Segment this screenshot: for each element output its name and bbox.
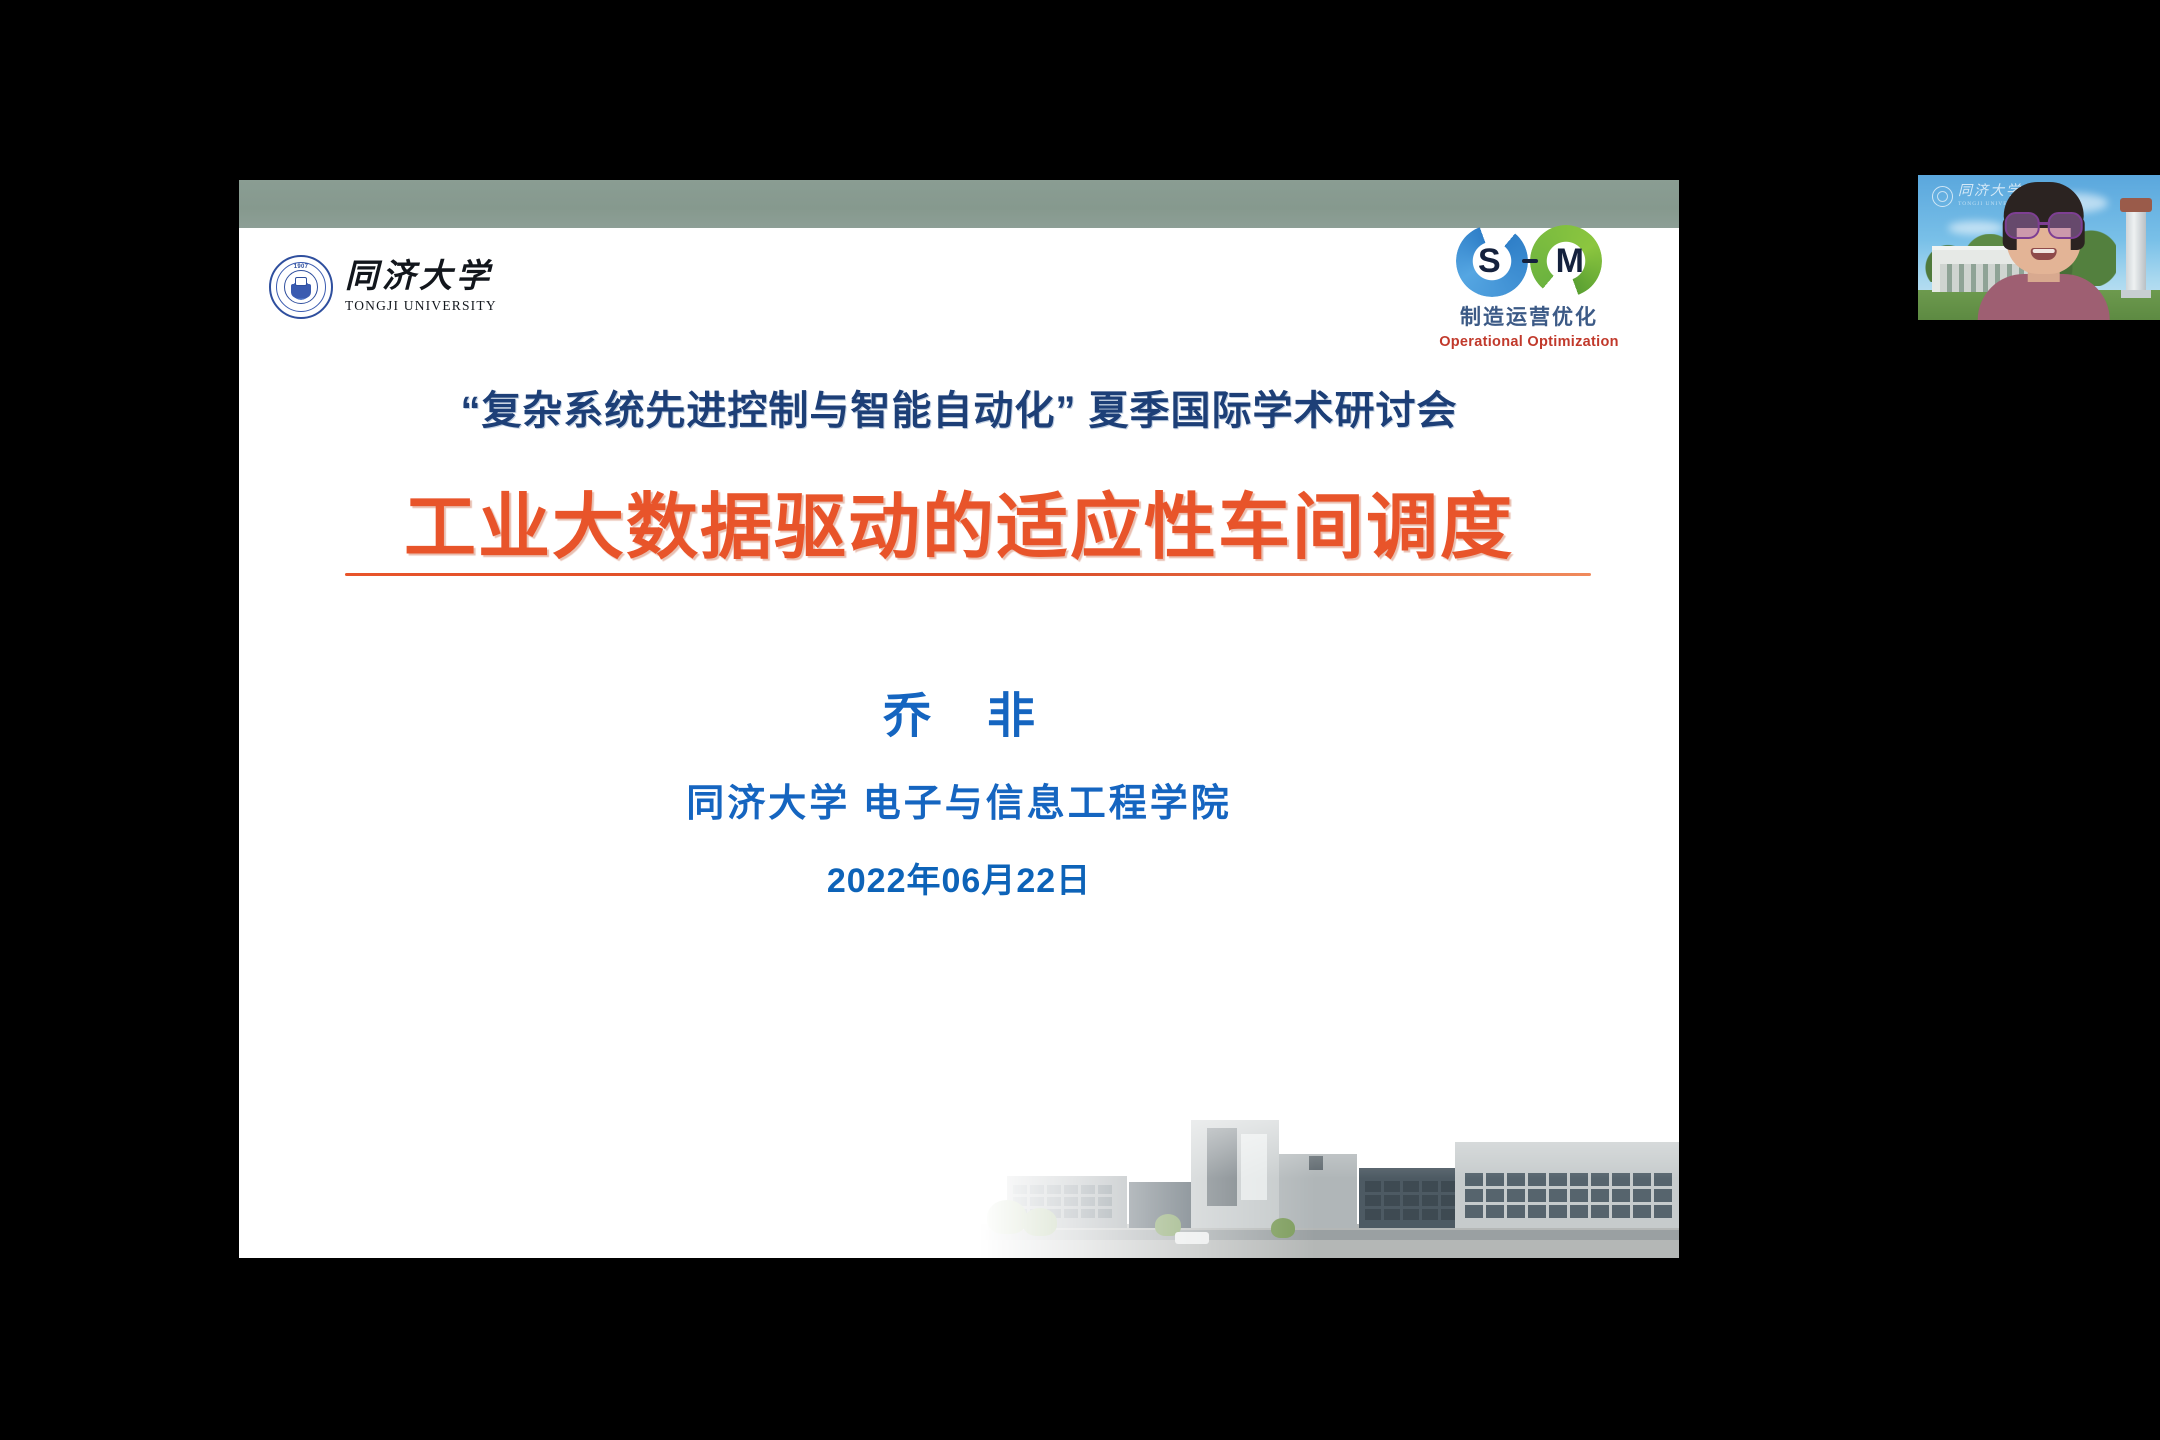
- webcam-speaker-portrait: [1985, 196, 2103, 320]
- conference-subtitle: “复杂系统先进控制与智能自动化” 夏季国际学术研讨会: [239, 378, 1679, 436]
- tongji-university-logo: 1907 同济大学 TONGJI UNIVERSITY: [269, 255, 497, 319]
- event-date: 2022年06月22日: [239, 853, 1679, 902]
- title-underline-rule: [345, 573, 1591, 576]
- campus-building-photo: [979, 1058, 1679, 1258]
- tongji-name-en: TONGJI UNIVERSITY: [345, 298, 497, 314]
- operational-optimization-logo: S M 制造运营优化 Operational Optimization: [1439, 225, 1619, 350]
- osm-dash-icon: [1522, 259, 1538, 263]
- presentation-title: 工业大数据驱动的适应性车间调度: [239, 468, 1679, 573]
- osm-mark-icon: S M: [1454, 225, 1604, 297]
- slide-top-band: [239, 180, 1679, 228]
- tongji-wordmark: 同济大学 TONGJI UNIVERSITY: [345, 261, 497, 314]
- speaker-name: 乔 非: [239, 676, 1679, 746]
- portrait-glasses-icon: [2005, 212, 2083, 236]
- presentation-slide[interactable]: 1907 同济大学 TONGJI UNIVERSITY S M 制造运营优化 O…: [239, 180, 1679, 1258]
- seal-year-label: 1907: [269, 264, 333, 270]
- speaker-affiliation: 同济大学 电子与信息工程学院: [239, 772, 1679, 827]
- osm-letter-s: S: [1478, 244, 1501, 278]
- tongji-name-cn: 同济大学: [345, 261, 497, 294]
- osm-name-cn: 制造运营优化: [1439, 301, 1619, 331]
- screen-root: 1907 同济大学 TONGJI UNIVERSITY S M 制造运营优化 O…: [0, 0, 2160, 1440]
- portrait-mouth: [2031, 248, 2057, 260]
- osm-letter-m: M: [1556, 244, 1584, 278]
- watermark-seal-icon: [1932, 186, 1953, 207]
- webcam-monument-tower: [2126, 208, 2146, 294]
- webcam-video-thumbnail[interactable]: 同济大学 TONGJI UNIVERSITY: [1918, 175, 2160, 320]
- osm-name-en: Operational Optimization: [1439, 334, 1619, 350]
- tongji-seal-icon: 1907: [269, 255, 333, 319]
